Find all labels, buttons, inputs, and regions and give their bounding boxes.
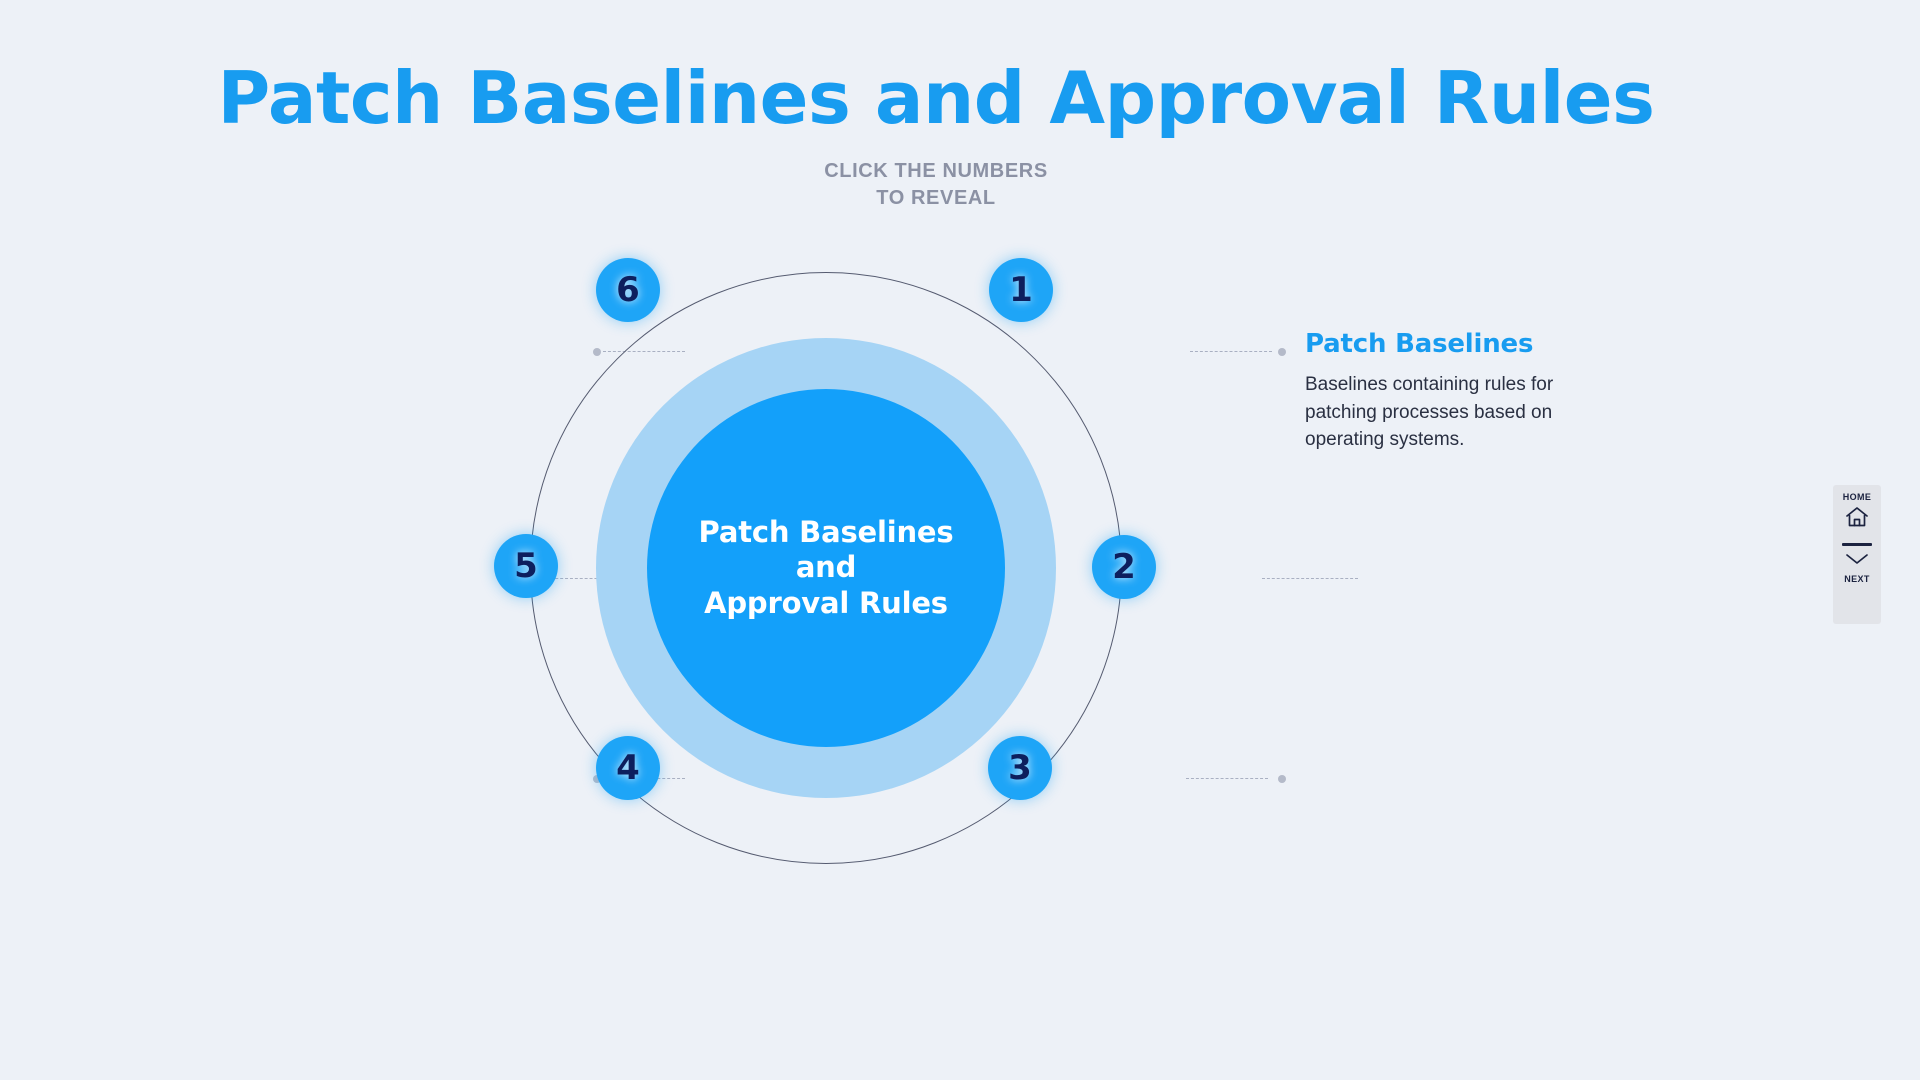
chevron-down-icon bbox=[1844, 552, 1870, 571]
wheel-node-4[interactable]: 4 bbox=[596, 736, 660, 800]
connector-line-1 bbox=[1190, 351, 1272, 352]
detail-panel: Patch Baselines Baselines containing rul… bbox=[1305, 329, 1605, 454]
connector-line-3 bbox=[1186, 778, 1268, 779]
wheel-node-2-number: 2 bbox=[1112, 550, 1136, 584]
interactive-wheel: Patch Baselines and Approval Rules 1 2 3… bbox=[530, 272, 1122, 864]
wheel-node-2[interactable]: 2 bbox=[1092, 535, 1156, 599]
next-button-label: NEXT bbox=[1844, 574, 1870, 584]
wheel-node-1[interactable]: 1 bbox=[989, 258, 1053, 322]
subtitle-line-1: CLICK THE NUMBERS bbox=[0, 158, 1872, 185]
header: Patch Baselines and Approval Rules CLICK… bbox=[0, 62, 1872, 212]
center-label-line-1: Patch Baselines and bbox=[681, 515, 971, 586]
page-title: Patch Baselines and Approval Rules bbox=[0, 62, 1872, 134]
subtitle-line-2: TO REVEAL bbox=[0, 185, 1872, 212]
wheel-node-5-number: 5 bbox=[514, 549, 538, 583]
wheel-node-3[interactable]: 3 bbox=[988, 736, 1052, 800]
rail-divider bbox=[1842, 543, 1872, 546]
wheel-node-6[interactable]: 6 bbox=[596, 258, 660, 322]
connector-line-2 bbox=[1262, 578, 1358, 579]
center-label-line-2: Approval Rules bbox=[681, 586, 971, 621]
navigation-rail: HOME NEXT bbox=[1833, 485, 1881, 624]
detail-body: Baselines containing rules for patching … bbox=[1305, 371, 1605, 454]
home-button-label: HOME bbox=[1843, 492, 1872, 502]
connector-dot-3 bbox=[1278, 775, 1286, 783]
house-icon bbox=[1845, 506, 1869, 533]
wheel-node-3-number: 3 bbox=[1008, 751, 1032, 785]
center-disc: Patch Baselines and Approval Rules bbox=[647, 389, 1005, 747]
home-button[interactable]: HOME bbox=[1843, 492, 1872, 533]
wheel-node-4-number: 4 bbox=[616, 751, 640, 785]
detail-title: Patch Baselines bbox=[1305, 329, 1605, 359]
center-label: Patch Baselines and Approval Rules bbox=[681, 515, 971, 621]
wheel-node-5[interactable]: 5 bbox=[494, 534, 558, 598]
next-button[interactable]: NEXT bbox=[1844, 552, 1870, 584]
wheel-node-6-number: 6 bbox=[616, 273, 640, 307]
connector-dot-1 bbox=[1278, 348, 1286, 356]
instruction-subtitle: CLICK THE NUMBERS TO REVEAL bbox=[0, 158, 1872, 212]
wheel-node-1-number: 1 bbox=[1009, 273, 1033, 307]
